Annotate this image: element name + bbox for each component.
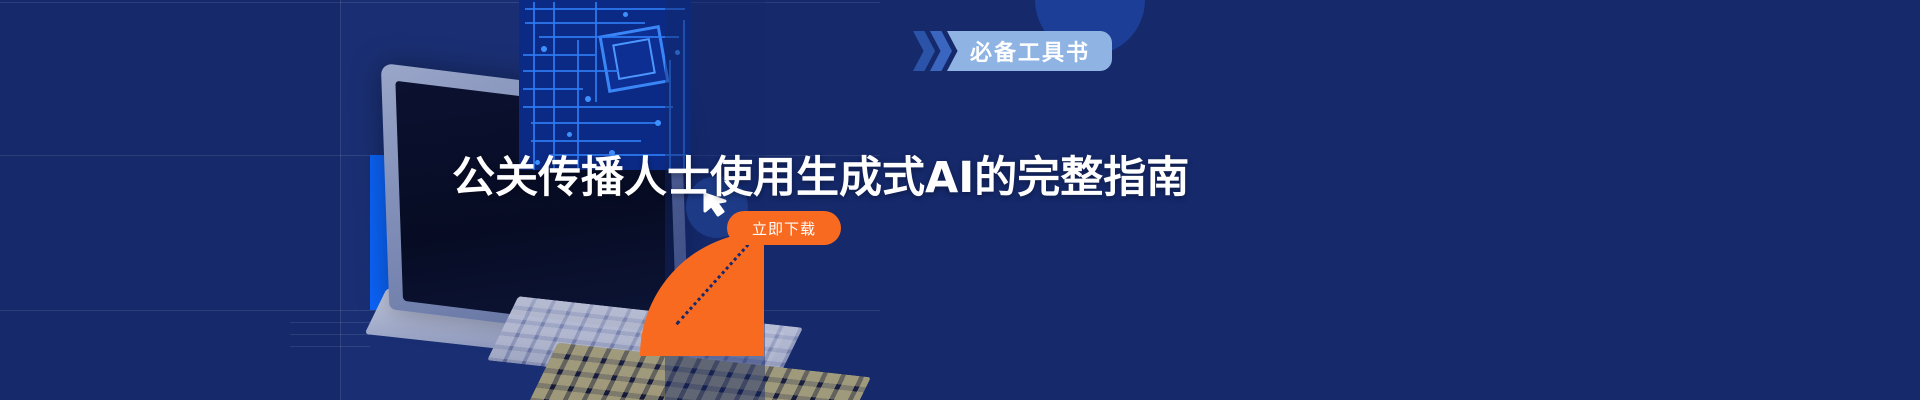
- download-button[interactable]: 立即下载: [727, 211, 841, 245]
- grid-line-vertical-1: [340, 0, 341, 400]
- badge-pill: 必备工具书: [958, 31, 1112, 71]
- badge-label: 必备工具书: [970, 35, 1090, 67]
- chevron-right-icon-1: [913, 31, 935, 71]
- promo-banner: 公关传播人士使用生成式AI的完整指南 立即下载 必备工具书: [0, 0, 1920, 400]
- bg-panel-left: [0, 0, 340, 400]
- badge: 必备工具书: [913, 31, 1112, 71]
- page-title: 公关传播人士使用生成式AI的完整指南: [452, 143, 1189, 205]
